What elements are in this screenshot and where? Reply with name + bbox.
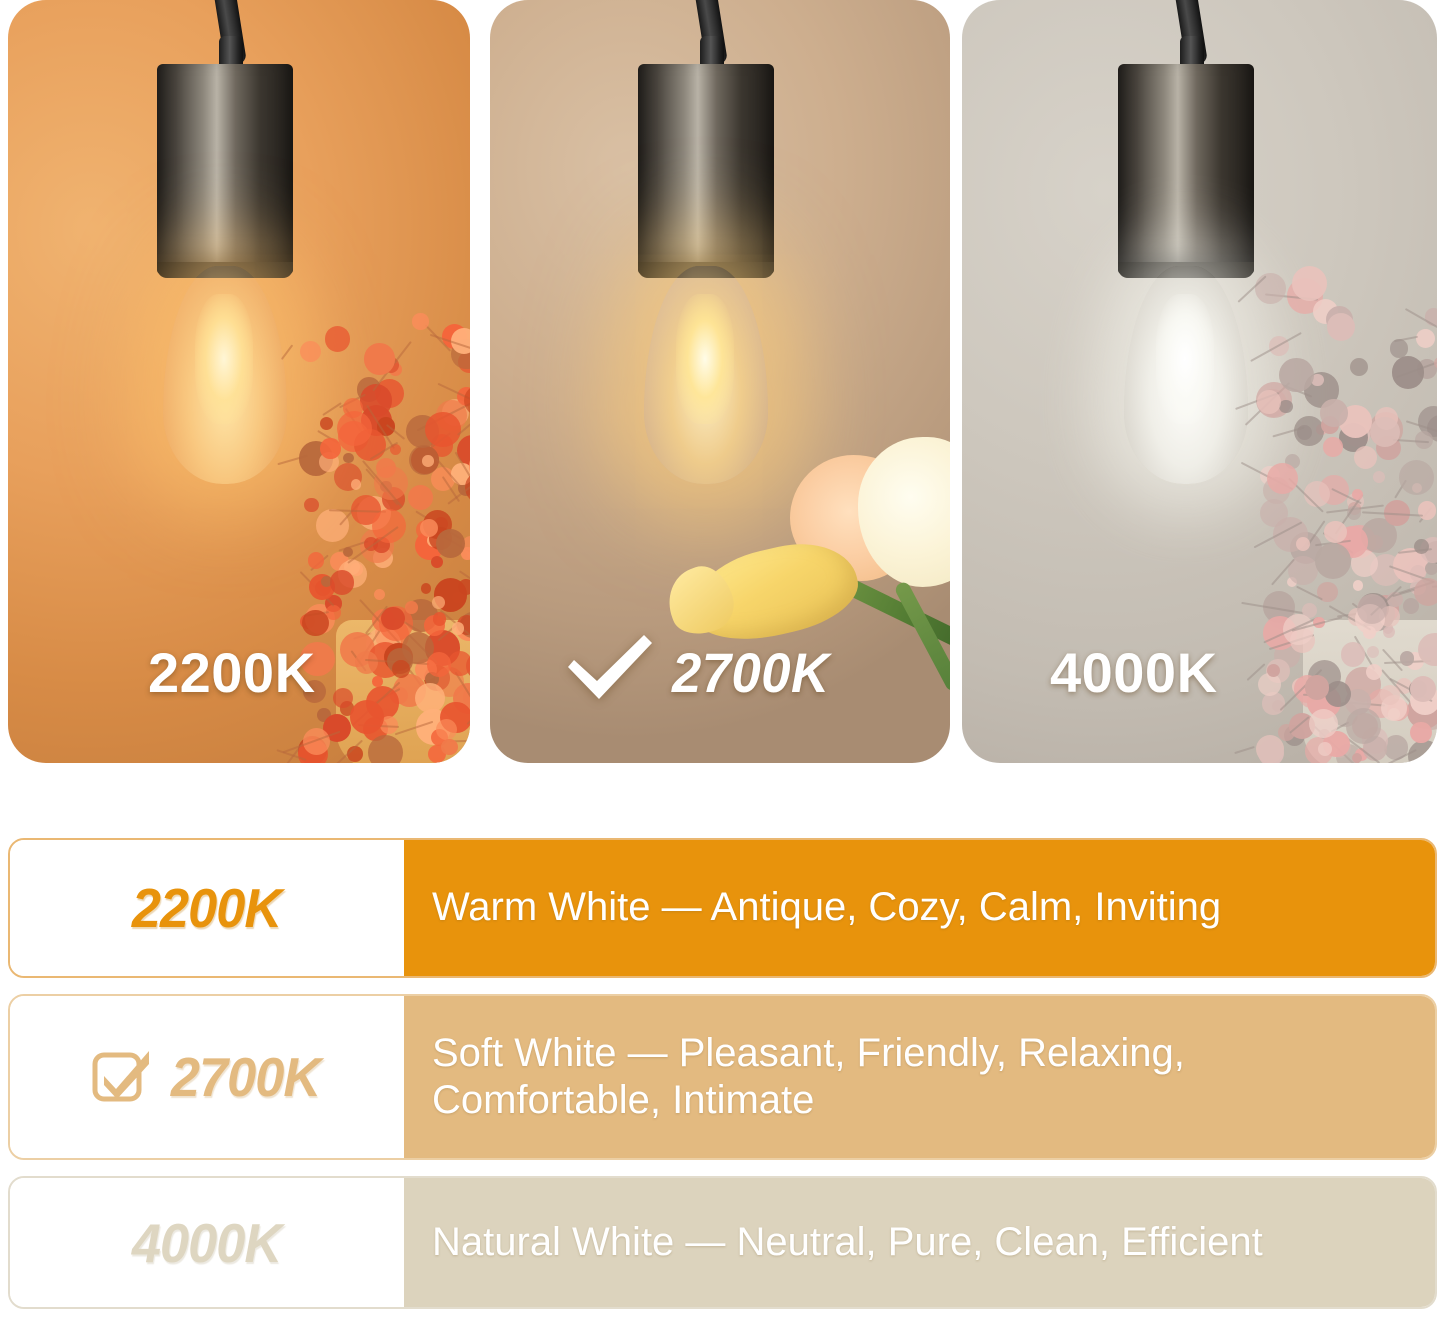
bulb-socket — [1118, 64, 1254, 274]
product-infographic: 2200K 2700 — [0, 0, 1445, 1343]
kelvin-value-2200k: 2200K — [132, 876, 281, 940]
table-row-2200k[interactable]: 2200K Warm White — Antique, Cozy, Calm, … — [8, 838, 1437, 978]
row-description-4000k: Natural White — Neutral, Pure, Clean, Ef… — [404, 1178, 1435, 1307]
row-description-2700k: Soft White — Pleasant, Friendly, Relaxin… — [404, 996, 1435, 1158]
checkbox-checked-icon[interactable] — [89, 1045, 153, 1109]
description-text-2200k: Warm White — Antique, Cozy, Calm, Inviti… — [432, 884, 1221, 931]
check-icon — [562, 631, 658, 701]
flower-bouquet-2700k — [630, 433, 950, 763]
bulb-filament — [1156, 294, 1214, 424]
photo-panel-2200k[interactable]: 2200K — [8, 0, 470, 763]
row-key-4000k: 4000K — [10, 1178, 404, 1307]
photo-label-4000k: 4000K — [1050, 640, 1218, 705]
kelvin-value-4000k: 4000K — [132, 1211, 281, 1275]
description-text-2700k: Soft White — Pleasant, Friendly, Relaxin… — [432, 1030, 1409, 1124]
photo-panel-4000k[interactable]: 4000K — [962, 0, 1437, 763]
photo-panel-2700k[interactable]: 2700K — [490, 0, 950, 763]
bulb-socket — [638, 64, 774, 274]
bulb-filament — [676, 294, 734, 424]
color-temperature-table: 2200K Warm White — Antique, Cozy, Calm, … — [8, 838, 1437, 1309]
pendant-bulb-4000k — [1070, 0, 1330, 514]
row-description-2200k: Warm White — Antique, Cozy, Calm, Inviti… — [404, 840, 1435, 976]
pendant-bulb-2200k — [109, 0, 369, 514]
bulb-socket — [157, 64, 293, 274]
photo-comparison-strip: 2200K 2700 — [0, 0, 1445, 768]
bulb-filament — [195, 294, 253, 424]
photo-label-2200k: 2200K — [148, 640, 316, 705]
table-row-4000k[interactable]: 4000K Natural White — Neutral, Pure, Cle… — [8, 1176, 1437, 1309]
table-row-2700k[interactable]: 2700K Soft White — Pleasant, Friendly, R… — [8, 994, 1437, 1160]
description-text-4000k: Natural White — Neutral, Pure, Clean, Ef… — [432, 1219, 1263, 1266]
row-key-2700k: 2700K — [10, 996, 404, 1158]
kelvin-value-2700k: 2700K — [171, 1045, 320, 1109]
photo-label-2700k: 2700K — [672, 640, 829, 705]
row-key-2200k: 2200K — [10, 840, 404, 976]
